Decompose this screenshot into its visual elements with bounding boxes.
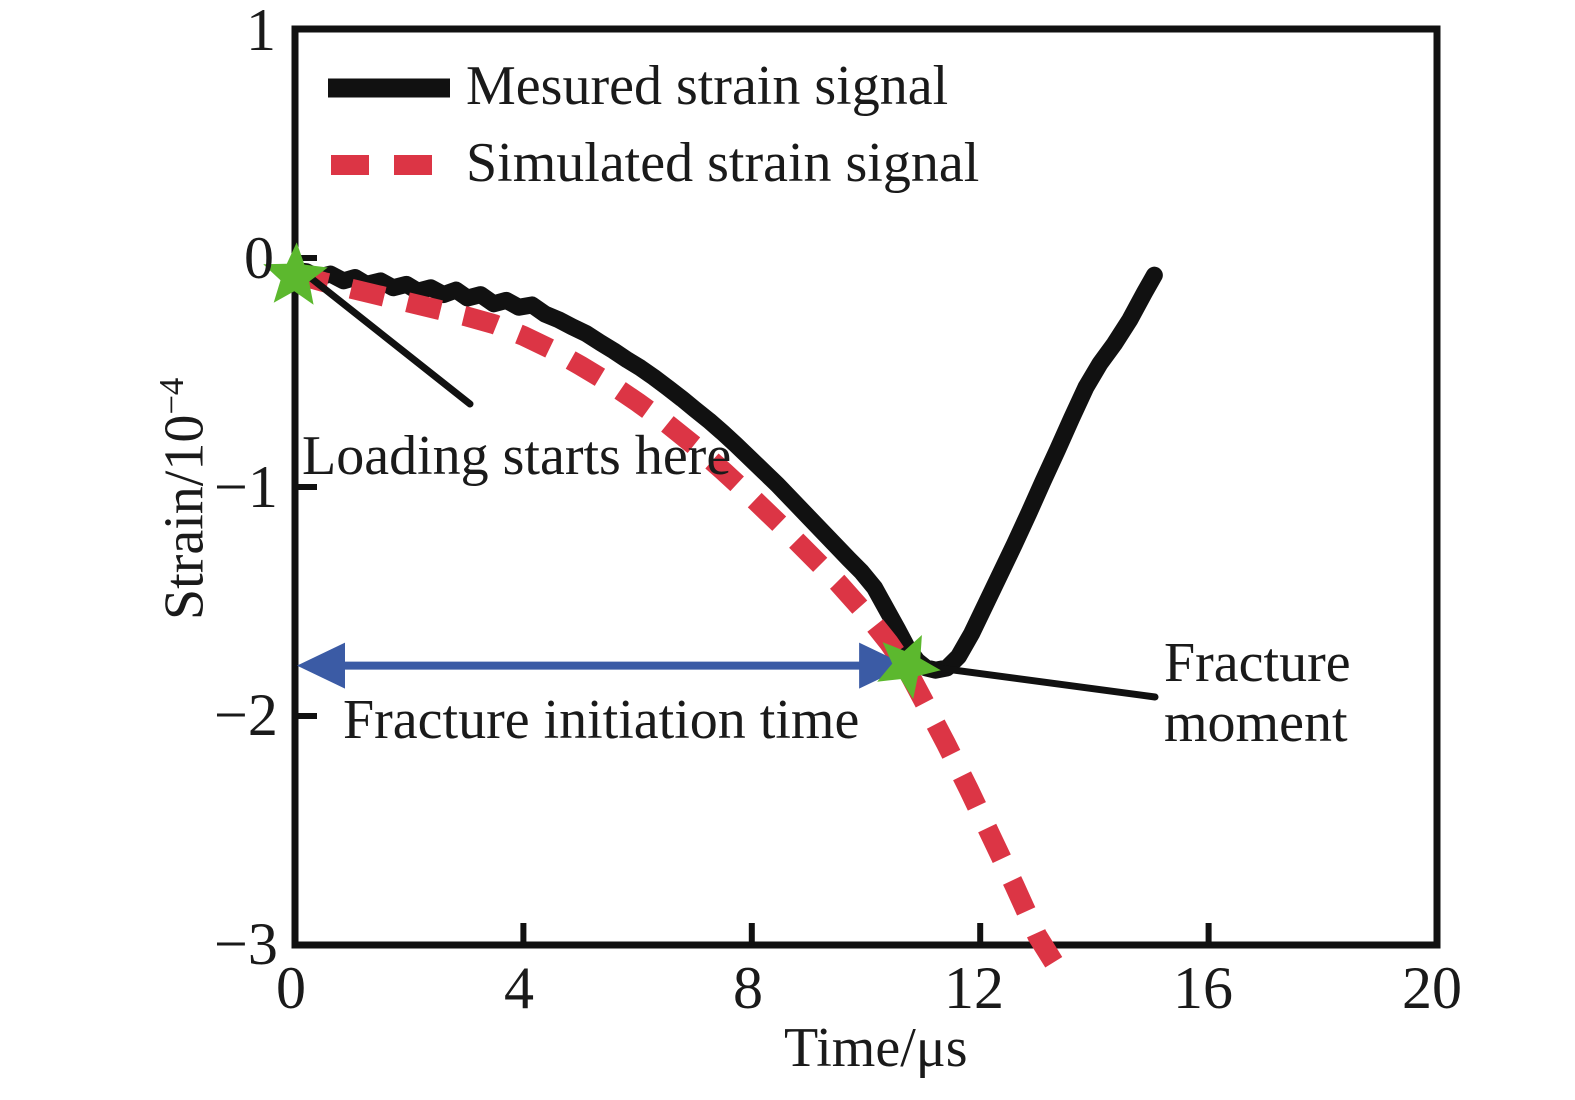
y-tick-label-0: 0: [244, 228, 274, 288]
y-axis-title-exponent: −4: [152, 378, 191, 415]
legend-label-simulated: Simulated strain signal: [466, 135, 979, 191]
annotation-fracture-initiation-time: Fracture initiation time: [343, 692, 859, 748]
x-tick-label-12: 12: [944, 958, 1004, 1018]
legend-swatch-simulated: [331, 155, 432, 175]
annotation-fracture-moment-line2: moment: [1164, 695, 1348, 751]
x-tick-label-0: 0: [276, 958, 306, 1018]
y-axis-title: Strain/10−4: [155, 378, 213, 620]
figure-container: Mesured strain signal Simulated strain s…: [0, 0, 1575, 1100]
x-axis-title: Time/μs: [784, 1020, 968, 1076]
y-tick-label-1: 1: [246, 0, 276, 60]
annotation-fracture-moment-line1: Fracture: [1164, 635, 1351, 691]
series-simulated: [295, 274, 1054, 963]
y-tick-label-minus2: −2: [214, 685, 278, 745]
legend-label-measured: Mesured strain signal: [466, 58, 948, 114]
data-series-layer: [295, 271, 1154, 964]
x-tick-label-8: 8: [733, 958, 763, 1018]
annotation-loading-starts-here: Loading starts here: [302, 428, 731, 484]
fracture-initiation-time-arrow: [297, 643, 907, 689]
y-tick-label-minus3: −3: [214, 914, 278, 974]
x-tick-label-20: 20: [1402, 958, 1462, 1018]
x-tick-label-4: 4: [504, 958, 534, 1018]
y-tick-label-minus1: −1: [214, 457, 278, 517]
x-tick-label-16: 16: [1173, 958, 1233, 1018]
y-axis-title-base: Strain/10: [154, 415, 216, 620]
